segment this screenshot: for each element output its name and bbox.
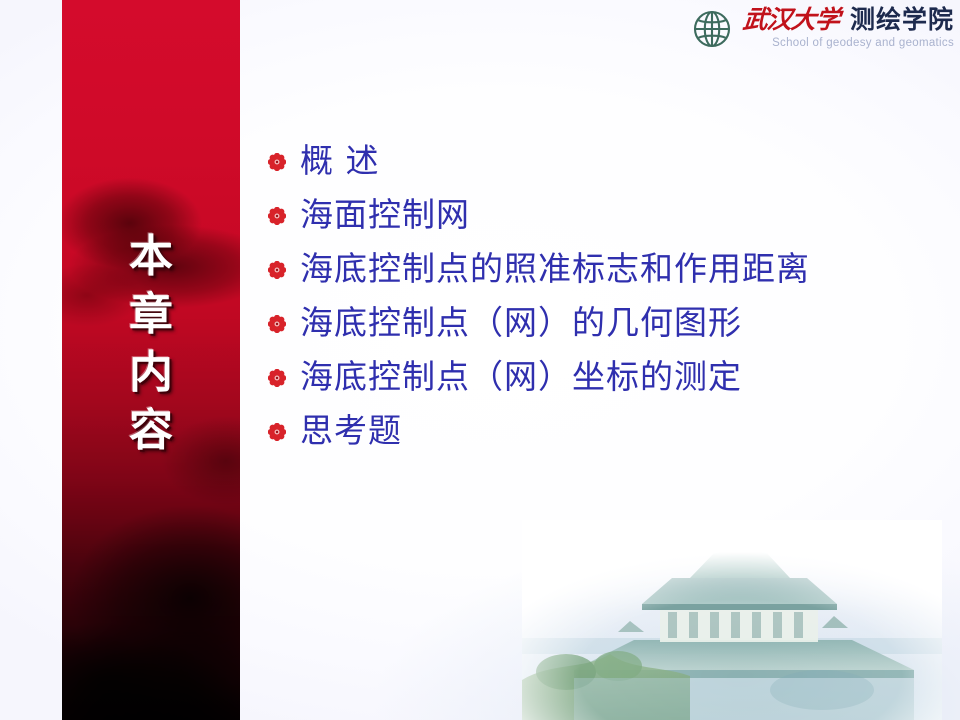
list-item[interactable]: 海面控制网 [268,188,928,242]
content-list: 概 述 海面控制网 [268,134,928,458]
list-item-label: 海底控制点的照准标志和作用距离 [300,249,810,289]
red-flower-bullet-icon [268,261,286,279]
list-item-label: 思考题 [300,411,402,451]
list-item-label: 海面控制网 [300,195,470,235]
university-logo: 武汉大学 测绘学院 School of geodesy and geomatic… [690,6,954,51]
banner-char-4: 容 [62,402,240,460]
list-item[interactable]: 海底控制点（网）的几何图形 [268,296,928,350]
red-flower-bullet-icon [268,315,286,333]
red-flower-bullet-icon [268,153,286,171]
slide-canvas: 本 章 内 容 武汉大学 测绘学院 [0,0,960,720]
logo-school-name-en: School of geodesy and geomatics [772,37,954,50]
red-flower-bullet-icon [268,369,286,387]
banner-vertical-title: 本 章 内 容 [62,228,240,460]
list-item[interactable]: 概 述 [268,134,928,188]
side-banner: 本 章 内 容 [62,0,240,720]
background-wash [240,420,960,720]
list-item-label: 海底控制点（网）的几何图形 [300,303,742,343]
chinese-pavilion-photo [522,520,942,720]
globe-icon [690,7,734,51]
list-item[interactable]: 海底控制点（网）坐标的测定 [268,350,928,404]
list-item-label: 海底控制点（网）坐标的测定 [300,357,742,397]
red-flower-bullet-icon [268,207,286,225]
logo-school-name: 测绘学院 [850,6,954,34]
logo-wordmark: 武汉大学 测绘学院 School of geodesy and geomatic… [743,6,954,50]
list-item[interactable]: 海底控制点的照准标志和作用距离 [268,242,928,296]
list-item-label: 概 述 [300,141,380,181]
red-flower-bullet-icon [268,423,286,441]
banner-char-3: 内 [62,344,240,402]
list-item[interactable]: 思考题 [268,404,928,458]
logo-university-name: 武汉大学 [741,6,840,34]
banner-char-2: 章 [62,286,240,344]
banner-char-1: 本 [62,228,240,286]
logo-chinese-line: 武汉大学 测绘学院 [743,6,954,36]
